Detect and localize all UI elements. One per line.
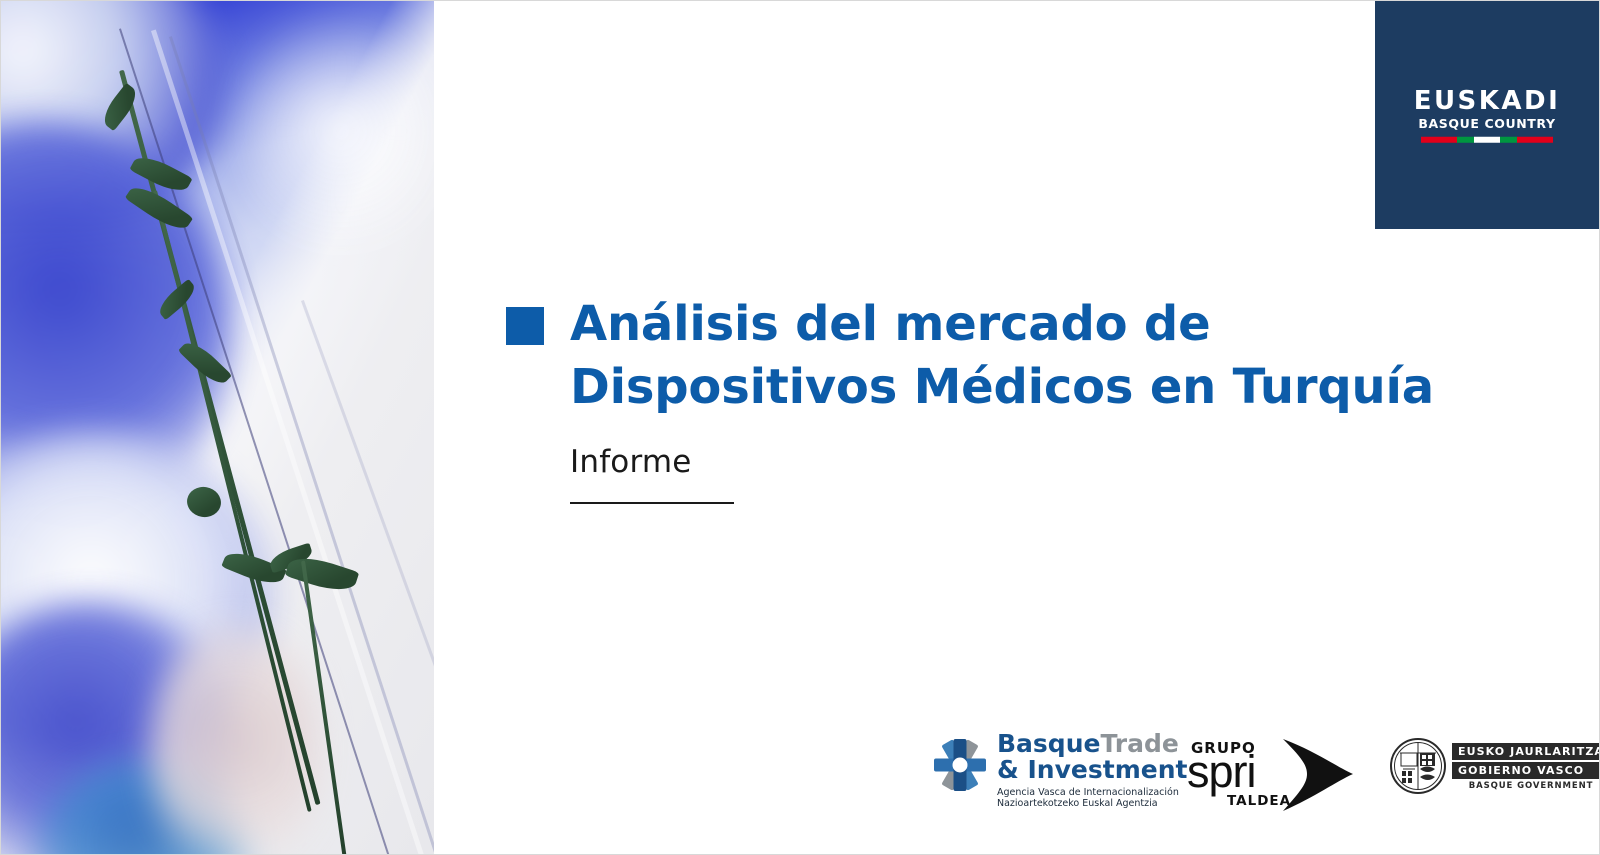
basque-trade-asterisk-icon xyxy=(931,733,989,797)
eusko-jaurlaritza-bar: EUSKO JAURLARITZA xyxy=(1452,743,1600,760)
page-title: Análisis del mercado de Dispositivos Méd… xyxy=(570,293,1434,420)
slide-subtitle: Informe xyxy=(570,444,692,480)
basque-trade-and-investment-logo: BasqueTrade & Investment Agencia Vasca d… xyxy=(931,729,1187,810)
slide-title-block: Análisis del mercado de Dispositivos Méd… xyxy=(506,293,1486,420)
title-line-1: Análisis del mercado de xyxy=(570,293,1434,356)
spri-wordmark: spri xyxy=(1187,749,1256,794)
eusko-jaurlaritza-gobierno-vasco-logo: EUSKO JAURLARITZA GOBIERNO VASCO BASQUE … xyxy=(1389,737,1600,795)
photo-bright-area xyxy=(241,1,434,261)
title-bullet-square xyxy=(506,307,544,345)
footer-logo-strip: BasqueTrade & Investment Agencia Vasca d… xyxy=(931,721,1571,821)
cover-photo-panel xyxy=(1,1,434,855)
flag-stripe-green-left xyxy=(1457,136,1474,142)
flag-stripe-green-right xyxy=(1500,136,1517,142)
euskadi-flag-bar xyxy=(1421,136,1553,142)
subtitle-underline-rule xyxy=(570,502,734,504)
spri-arrow-icon xyxy=(1275,737,1353,813)
basque-word: Basque xyxy=(997,729,1100,758)
presentation-slide: EUSKADI BASQUE COUNTRY Análisis del merc… xyxy=(0,0,1600,855)
grupo-spri-taldea-logo: GRUPO spri TALDEA xyxy=(1179,735,1339,815)
trade-word: Trade xyxy=(1100,729,1178,758)
basque-trade-wordmark-line1: BasqueTrade xyxy=(997,731,1187,757)
euskadi-basque-country-logo: EUSKADI BASQUE COUNTRY xyxy=(1407,88,1567,143)
flag-stripe-white xyxy=(1474,136,1499,142)
title-line-2: Dispositivos Médicos en Turquía xyxy=(570,356,1434,419)
basque-trade-tagline-eu: Nazioartekotzeko Euskal Agentzia xyxy=(997,798,1187,810)
investment-word: & Investment xyxy=(997,757,1187,783)
flag-stripe-red-right xyxy=(1517,136,1553,142)
basque-country-wordmark: BASQUE COUNTRY xyxy=(1407,118,1567,131)
euskadi-logo-block: EUSKADI BASQUE COUNTRY xyxy=(1375,1,1599,229)
basque-government-coat-of-arms-icon xyxy=(1389,737,1447,795)
gobierno-vasco-bar: GOBIERNO VASCO xyxy=(1452,762,1600,779)
basque-government-label: BASQUE GOVERNMENT xyxy=(1452,781,1600,791)
basque-trade-tagline-es: Agencia Vasca de Internacionalización xyxy=(997,787,1187,799)
euskadi-wordmark: EUSKADI xyxy=(1407,88,1567,114)
flag-stripe-red-left xyxy=(1421,136,1457,142)
